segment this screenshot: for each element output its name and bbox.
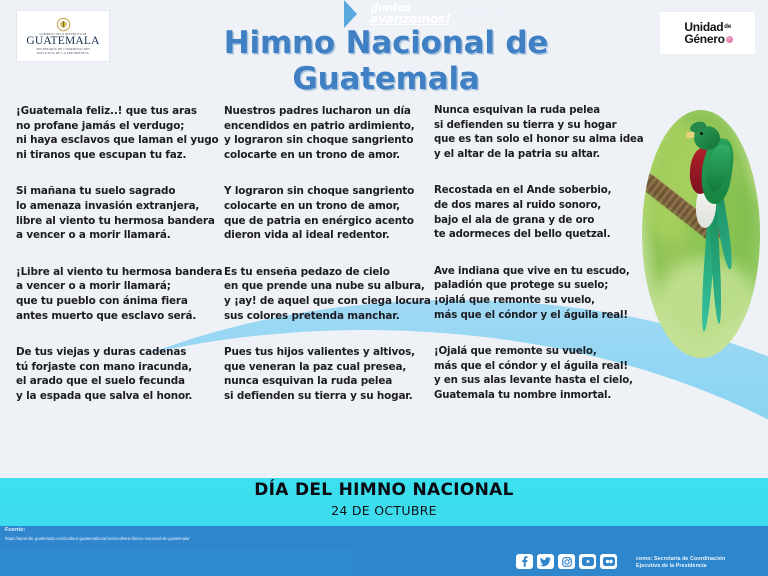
pink-dot-icon	[726, 36, 733, 43]
lyric-line: ¡Ojalá que remonte su vuelo,	[434, 345, 649, 360]
stanza: Ave indiana que vive en tu escudo, palad…	[434, 265, 649, 323]
lyric-line: más que el cóndor y el águila real!	[434, 360, 649, 375]
lyric-line: que es tan solo el honor su alma idea	[434, 133, 649, 148]
twitter-icon[interactable]	[537, 554, 554, 569]
quetzal-bird-photo	[642, 110, 760, 358]
lyric-line: antes muerto que esclavo será.	[16, 309, 221, 324]
lyric-line: De tus viejas y duras cadenas	[16, 345, 221, 360]
slogan: ¡Juntos avanzamos!	[370, 3, 450, 25]
lyric-line: Es tu enseña pedazo de cielo	[224, 265, 432, 280]
stanza: ¡Guatemala feliz..! que tus aras no prof…	[16, 104, 221, 162]
source-note: Fuente: https://aprende.guatemala.com/cu…	[5, 527, 190, 542]
lyric-line: colocarte en un trono de amor,	[224, 199, 432, 214]
lyric-line: y el altar de la patria su altar.	[434, 148, 649, 163]
lyric-line: ¡Libre al viento tu hermosa bandera	[16, 265, 221, 280]
lyric-line: en que prende una nube su albura,	[224, 279, 432, 294]
lyric-line: tú forjaste con mano iracunda,	[16, 360, 221, 375]
lyric-line: lo amenaza invasión extranjera,	[16, 199, 221, 214]
youtube-icon[interactable]	[579, 554, 596, 569]
lyric-line: y la espada que salva el honor.	[16, 389, 221, 404]
lyric-line: bajo el ala de grana y de oro	[434, 214, 649, 229]
facebook-icon[interactable]	[516, 554, 533, 569]
lyric-line: te adormeces del bello quetzal.	[434, 228, 649, 243]
stanza: Si mañana tu suelo sagrado lo amenaza in…	[16, 184, 221, 242]
lyric-line: encendidos en patrio ardimiento,	[224, 119, 432, 134]
guatemala-coat-of-arms-icon	[56, 17, 71, 32]
day-band-title: DÍA DEL HIMNO NACIONAL	[0, 480, 768, 500]
account-note: como: Secretaría de Coordinación Ejecuti…	[636, 556, 725, 570]
lyrics-column-3: Nunca esquivan la ruda pelea si defiende…	[434, 104, 649, 426]
follow-label: Síguenos en:	[464, 9, 504, 16]
account-note-line-1: como: Secretaría de Coordinación	[636, 556, 725, 563]
flickr-icon[interactable]	[600, 554, 617, 569]
lyric-line: Nunca esquivan la ruda pelea	[434, 104, 649, 119]
footer-arrow-icon	[344, 0, 357, 28]
account-note-line-2: Ejecutiva de la Presidencia	[636, 563, 725, 570]
day-band-date: 24 DE OCTUBRE	[0, 503, 768, 518]
stanza: ¡Libre al viento tu hermosa bandera a ve…	[16, 265, 221, 323]
lyric-line: más que el cóndor y el águila real!	[434, 309, 649, 324]
lyric-line: colocarte en un trono de amor.	[224, 148, 432, 163]
lyric-line: Pues tus hijos valientes y altivos,	[224, 345, 432, 360]
stanza: Y lograron sin choque sangriento colocar…	[224, 184, 432, 242]
lyrics-column-2: Nuestros padres lucharon un día encendid…	[224, 104, 432, 426]
lyric-line: Recostada en el Ande soberbio,	[434, 184, 649, 199]
gender-unit-logo: Unidadde Género	[660, 12, 755, 54]
stanza: De tus viejas y duras cadenas tú forjast…	[16, 345, 221, 403]
lyric-line: libre al viento tu hermosa bandera	[16, 214, 221, 229]
lyric-line: que de patria en enérgico acento	[224, 214, 432, 229]
lyric-line: dieron vida al ideal redentor.	[224, 228, 432, 243]
stanza: Recostada en el Ande soberbio, de dos ma…	[434, 184, 649, 242]
instagram-icon[interactable]	[558, 554, 575, 569]
lyric-line: no profane jamás el verdugo;	[16, 119, 221, 134]
lyric-line: Nuestros padres lucharon un día	[224, 104, 432, 119]
lyric-line: ni tiranos que escupan tu faz.	[16, 148, 221, 163]
lyric-line: nunca esquivan la ruda pelea	[224, 374, 432, 389]
lyric-line: y ¡ay! de aquel que con ciega locura	[224, 294, 432, 309]
stanza: Nunca esquivan la ruda pelea si defiende…	[434, 104, 649, 162]
lyric-line: que veneran la paz cual presea,	[224, 360, 432, 375]
lyric-line: Guatemala tu nombre inmortal.	[434, 389, 649, 404]
lyric-line: y en sus alas levante hasta el cielo,	[434, 374, 649, 389]
gov-logo: GOBIERNO DE LA REPÚBLICA DE GUATEMALA SE…	[17, 11, 109, 61]
lyric-line: ni haya esclavos que laman el yugo	[16, 133, 221, 148]
page-title: Himno Nacional de Guatemala	[128, 25, 644, 97]
gender-unit-line2: Género	[684, 32, 724, 46]
lyric-line: ¡Guatemala feliz..! que tus aras	[16, 104, 221, 119]
gov-logo-name: GUATEMALA	[26, 36, 99, 47]
gender-unit-de: de	[724, 24, 731, 30]
stanza: Es tu enseña pedazo de cielo en que pren…	[224, 265, 432, 323]
source-label: Fuente:	[5, 527, 190, 535]
lyric-line: y lograron sin choque sangriento	[224, 133, 432, 148]
lyric-line: Ave indiana que vive en tu escudo,	[434, 265, 649, 280]
quetzal-eye	[700, 132, 703, 135]
lyric-line: a vencer o a morir llamará.	[16, 228, 221, 243]
footer-left-block	[0, 548, 352, 576]
gov-logo-sub-line-2: EJECUTIVA DE LA PRESIDENCIA	[37, 51, 89, 55]
lyric-line: Y lograron sin choque sangriento	[224, 184, 432, 199]
stanza: ¡Ojalá que remonte su vuelo, más que el …	[434, 345, 649, 403]
lyric-line: el arado que el suelo fecunda	[16, 374, 221, 389]
social-links	[516, 554, 617, 569]
lyric-line: sus colores pretenda manchar.	[224, 309, 432, 324]
lyric-line: Si mañana tu suelo sagrado	[16, 184, 221, 199]
lyric-line: de dos mares al ruido sonoro,	[434, 199, 649, 214]
stanza: Nuestros padres lucharon un día encendid…	[224, 104, 432, 162]
lyric-line: a vencer o a morir llamará;	[16, 279, 221, 294]
infographic-poster: GOBIERNO DE LA REPÚBLICA DE GUATEMALA SE…	[0, 0, 768, 576]
lyric-line: si defienden su tierra y su hogar	[434, 119, 649, 134]
source-url[interactable]: https://aprende.guatemala.com/cultura-gu…	[5, 535, 190, 543]
slogan-line-2: avanzamos!	[370, 14, 450, 26]
lyric-line: paladión que protege su suelo;	[434, 279, 649, 294]
lyrics-column-1: ¡Guatemala feliz..! que tus aras no prof…	[16, 104, 221, 426]
lyric-line: si defienden su tierra y su hogar.	[224, 389, 432, 404]
stanza: Pues tus hijos valientes y altivos, que …	[224, 345, 432, 403]
lyric-line: que tu pueblo con ánima fiera	[16, 294, 221, 309]
lyric-line: ¡ojalá que remonte su vuelo,	[434, 294, 649, 309]
